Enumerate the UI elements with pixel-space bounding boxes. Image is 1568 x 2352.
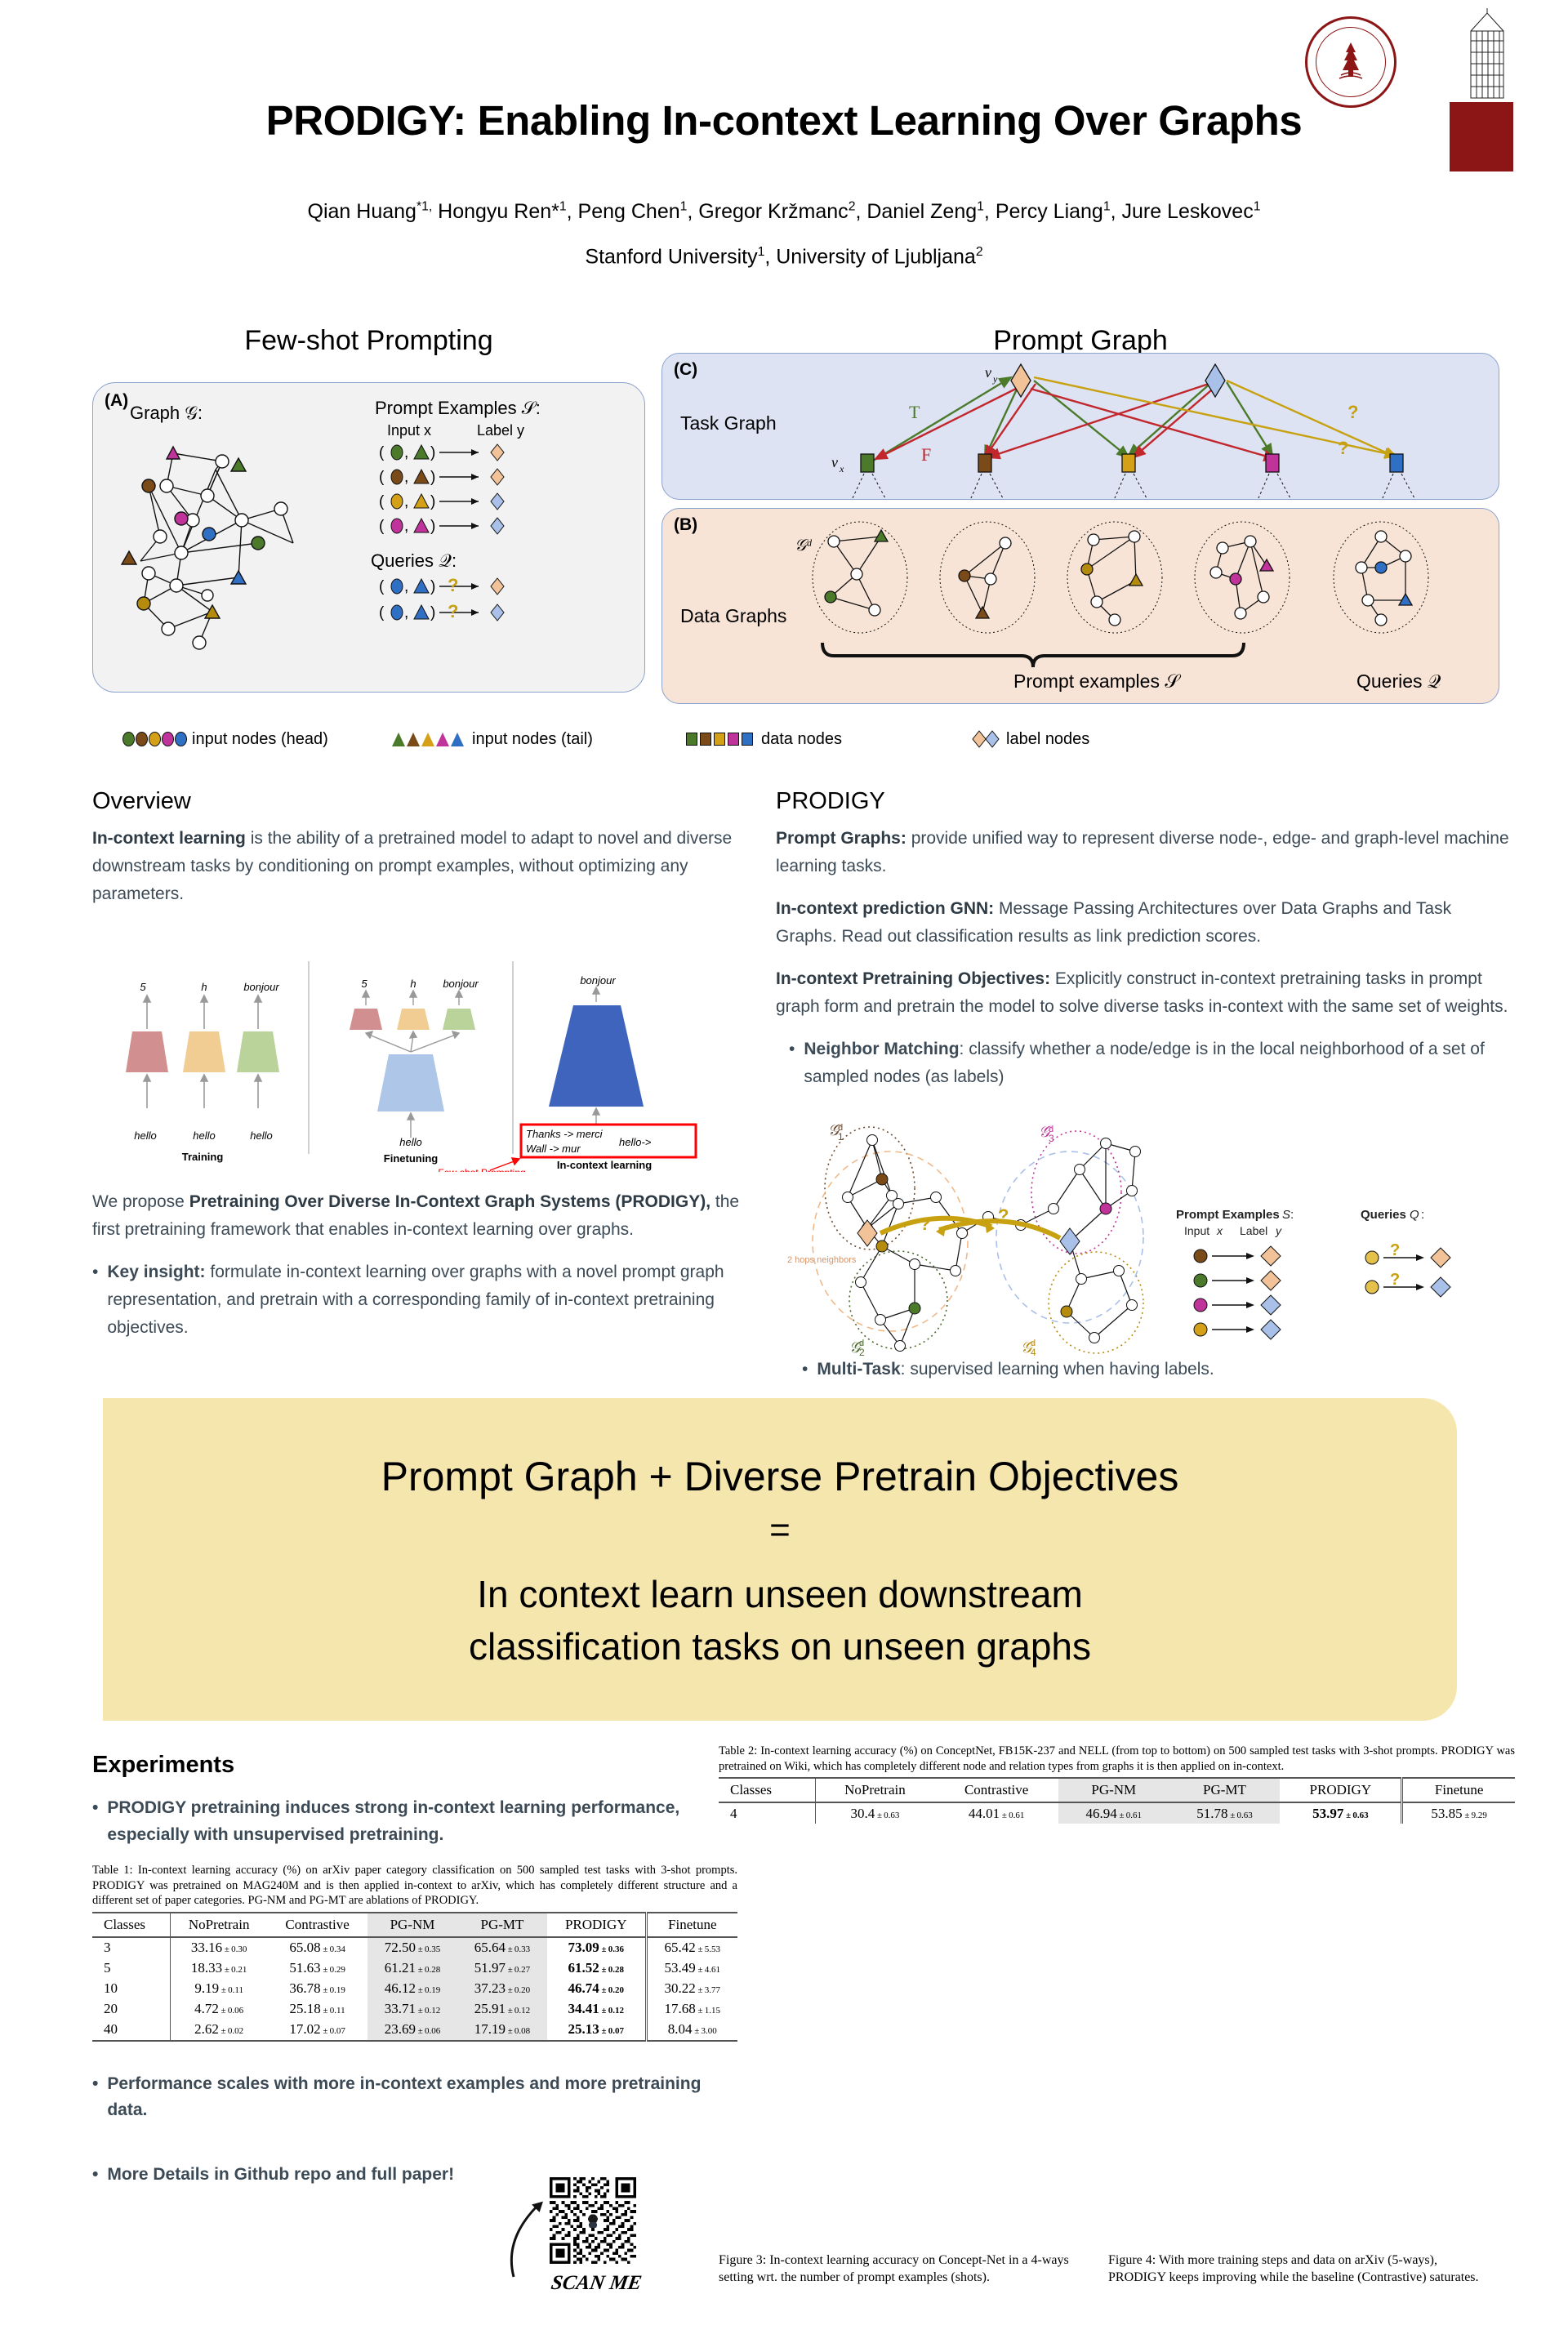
- svg-text:x: x: [839, 463, 844, 474]
- banner-line-2: In context learn unseen downstream class…: [469, 1569, 1091, 1673]
- square-icon: [686, 733, 697, 746]
- data-graphs-label: Data Graphs: [680, 605, 786, 627]
- table-row: 402.62 ± 0.0217.02 ± 0.0723.69 ± 0.0617.…: [92, 2020, 737, 2041]
- prompt-examples-brace-label: Prompt examples 𝒮: [1013, 670, 1179, 693]
- banner-line-1: Prompt Graph + Diverse Pretrain Objectiv…: [381, 1453, 1179, 1500]
- svg-text:?: ?: [998, 1205, 1009, 1226]
- legend-label: data nodes: [761, 730, 842, 749]
- overview-bullet-key-insight: • Key insight: formulate in-context lear…: [92, 1258, 754, 1342]
- th-classes: Classes: [719, 1778, 815, 1802]
- neighbor-matching-label: Neighbor Matching: [804, 1040, 959, 1058]
- svg-text:?: ?: [448, 601, 458, 621]
- svg-text:3: 3: [1049, 1133, 1054, 1144]
- experiments-bullet-3-text: More Details in Github repo and full pap…: [107, 2162, 454, 2189]
- label-y-label: Label y: [477, 422, 524, 439]
- triangle-icon: [421, 733, 434, 746]
- prodigy-heading: PRODIGY: [776, 788, 1511, 815]
- table-cell: 46.94 ± 0.61: [1058, 1802, 1169, 1824]
- table-row: 333.16 ± 0.3065.08 ± 0.3472.50 ± 0.3565.…: [92, 1937, 737, 1958]
- poster-header: PRODIGY: Enabling In-context Learning Ov…: [0, 0, 1568, 171]
- diamond-icon: [972, 730, 1001, 748]
- square-icon: [714, 733, 725, 746]
- table-cell: 61.21 ± 0.28: [367, 1958, 457, 1979]
- task-graph-label: Task Graph: [680, 412, 777, 434]
- affiliation-line: Stanford University1, University of Ljub…: [0, 245, 1568, 269]
- svg-text:): ): [430, 469, 435, 486]
- svg-text:Wall -> mur: Wall -> mur: [526, 1143, 581, 1155]
- table-2-kg-accuracy: Classes NoPretrain Contrastive PG-NM PG-…: [719, 1777, 1515, 1824]
- svg-text:T: T: [909, 402, 920, 422]
- data-graphs-svg: [809, 519, 1487, 641]
- svg-text:y: y: [992, 373, 998, 385]
- curved-arrow-icon: [506, 2190, 555, 2280]
- overview-lower-text: We propose Pretraining Over Diverse In-C…: [92, 1188, 754, 1353]
- svg-text:(: (: [379, 604, 385, 621]
- circle-icon: [175, 732, 187, 746]
- table-row: 518.33 ± 0.2151.63 ± 0.2961.21 ± 0.2851.…: [92, 1958, 737, 1979]
- prodigy-bullet-neighbor-matching: • Neighbor Matching: classify whether a …: [776, 1036, 1511, 1091]
- neighbor-matching-figure: ? ? 𝒢 1d 𝒢 2d 𝒢 3d 𝒢 4d 2 hops neighbors…: [776, 1119, 1511, 1356]
- legend-label: input nodes (tail): [472, 730, 593, 749]
- table-cell: 17.02 ± 0.07: [267, 2020, 367, 2041]
- table-cell: 53.97 ± 0.63: [1280, 1802, 1401, 1824]
- table-cell: 9.19 ± 0.11: [171, 1979, 268, 1999]
- stanford-brand-bar: [1450, 102, 1513, 171]
- training-vs-incontext-figure: 5 h bonjour hello hello hello Training 5…: [98, 943, 743, 1172]
- svg-text:h: h: [201, 981, 207, 993]
- svg-text:Input: Input: [1184, 1224, 1209, 1237]
- table-cell: 30.22 ± 3.77: [646, 1979, 737, 1999]
- svg-text:5: 5: [140, 981, 146, 993]
- scan-me-caption: SCAN ME: [550, 2272, 669, 2295]
- svg-text:d: d: [1049, 1125, 1053, 1134]
- overview-heading: Overview: [92, 788, 754, 815]
- svg-text:In-context learning: In-context learning: [557, 1159, 652, 1171]
- prompt-graphs-label: Prompt Graphs:: [776, 829, 906, 848]
- panel-b-data-graphs: (B) Data Graphs 𝒢ᵈ: [661, 508, 1499, 704]
- th-contrastive: Contrastive: [934, 1778, 1058, 1802]
- svg-text:hello->: hello->: [619, 1136, 652, 1148]
- svg-text:,: ,: [404, 444, 408, 461]
- table-cell: 65.42 ± 5.53: [646, 1937, 737, 1958]
- figure-captions: Figure 3: In-context learning accuracy o…: [719, 2252, 1515, 2287]
- svg-text:Thanks -> merci: Thanks -> merci: [526, 1128, 604, 1140]
- table-cell: 34.41 ± 0.12: [547, 1999, 646, 2020]
- example-graph-svg: [118, 422, 363, 667]
- table2-caption: Table 2: In-context learning accuracy (%…: [719, 1744, 1515, 1774]
- legend-item-input-tail: input nodes (tail): [392, 730, 686, 749]
- svg-text:d: d: [859, 1339, 864, 1348]
- svg-text:bonjour: bonjour: [443, 978, 479, 990]
- github-qr-block[interactable]: SCAN ME: [545, 2172, 667, 2295]
- queries-brace-label: Queries 𝒬: [1356, 670, 1441, 693]
- bullet-dot-icon: •: [92, 1258, 98, 1342]
- legend-label: label nodes: [1006, 730, 1089, 749]
- th-pgmt: PG-MT: [457, 1913, 547, 1937]
- table-cell: 4.72 ± 0.06: [171, 1999, 268, 2020]
- node-legend: input nodes (head) input nodes (tail) da…: [122, 725, 1511, 753]
- bullet-dot-icon: •: [92, 2071, 98, 2124]
- svg-text:v: v: [831, 454, 838, 470]
- banner-equals-sign: =: [769, 1510, 791, 1551]
- svg-text:bonjour: bonjour: [580, 974, 616, 987]
- hoover-tower-icon: [1450, 7, 1525, 100]
- table-row: Classes NoPretrain Contrastive PG-NM PG-…: [92, 1913, 737, 1937]
- svg-text:hello: hello: [134, 1129, 156, 1142]
- table-row: 204.72 ± 0.0625.18 ± 0.1133.71 ± 0.1225.…: [92, 1999, 737, 2020]
- table-cell: 65.08 ± 0.34: [267, 1937, 367, 1958]
- figures-row: [719, 2017, 1515, 2254]
- svg-text:v: v: [985, 364, 991, 381]
- svg-text:bonjour: bonjour: [243, 981, 279, 993]
- bullet-dot-icon: •: [789, 1036, 795, 1091]
- triangle-icon: [436, 733, 449, 746]
- th-finetune: Finetune: [646, 1913, 737, 1937]
- table-cell: 30.4 ± 0.63: [815, 1802, 934, 1824]
- svg-text:?: ?: [1347, 402, 1358, 422]
- svg-text:,: ,: [404, 469, 408, 486]
- table-cell: 17.68 ± 1.15: [646, 1999, 737, 2020]
- svg-text:?: ?: [920, 1214, 930, 1234]
- key-insight-label: Key insight:: [107, 1263, 205, 1281]
- svg-text:h: h: [410, 978, 416, 990]
- queries-rows: ( , ) ? ( , ) ?: [379, 576, 608, 635]
- th-contrastive: Contrastive: [267, 1913, 367, 1937]
- th-nopretrain: NoPretrain: [171, 1913, 268, 1937]
- qr-code-icon[interactable]: [550, 2177, 636, 2264]
- svg-text:,: ,: [404, 578, 408, 595]
- experiments-bullet-2: • Performance scales with more in-contex…: [92, 2071, 737, 2124]
- svg-text:Finetuning: Finetuning: [384, 1152, 438, 1165]
- table-cell: 51.97 ± 0.27: [457, 1958, 547, 1979]
- square-icon: [742, 733, 753, 746]
- figure-4-chart: [1131, 2017, 1515, 2250]
- table-1-arxiv-accuracy: Classes NoPretrain Contrastive PG-NM PG-…: [92, 1912, 737, 2042]
- th-prodigy: PRODIGY: [547, 1913, 646, 1937]
- table-cell: 36.78 ± 0.19: [267, 1979, 367, 1999]
- table-cell-classes: 40: [92, 2020, 171, 2041]
- legend-label: input nodes (head): [192, 730, 328, 749]
- svg-text:?: ?: [1390, 1241, 1400, 1259]
- svg-text:,: ,: [404, 493, 408, 510]
- overview-paragraph-1: In-context learning is the ability of a …: [92, 825, 754, 908]
- table-cell: 51.63 ± 0.29: [267, 1958, 367, 1979]
- circle-icon: [149, 732, 161, 746]
- table-cell: 23.69 ± 0.06: [367, 2020, 457, 2041]
- gnn-label: In-context prediction GNN:: [776, 899, 994, 918]
- prompt-examples-label: Prompt Examples 𝒮:: [375, 398, 541, 419]
- th-pgnm: PG-NM: [367, 1913, 457, 1937]
- svg-text:,: ,: [404, 604, 408, 621]
- svg-text:y: y: [1275, 1224, 1282, 1237]
- th-finetune: Finetune: [1402, 1778, 1515, 1802]
- th-pgmt: PG-MT: [1169, 1778, 1281, 1802]
- overview-column: Overview In-context learning is the abil…: [92, 788, 754, 923]
- stanford-seal-logo: [1305, 16, 1396, 108]
- figure-3-chart: [719, 2017, 1102, 2250]
- table2-block: Table 2: In-context learning accuracy (%…: [719, 1744, 1515, 1824]
- circle-icon: [136, 732, 148, 746]
- prodigy-item-gnn: In-context prediction GNN: Message Passi…: [776, 895, 1511, 951]
- banner-line-2b: classification tasks on unseen graphs: [469, 1625, 1091, 1668]
- table-cell-classes: 5: [92, 1958, 171, 1979]
- table-cell: 33.16 ± 0.30: [171, 1937, 268, 1958]
- table1-caption: Table 1: In-context learning accuracy (%…: [92, 1863, 737, 1909]
- multi-task-label: Multi-Task: [817, 1360, 900, 1379]
- author-line: Qian Huang*1, Hongyu Ren*1, Peng Chen1, …: [308, 200, 1261, 223]
- svg-text:): ): [430, 493, 435, 510]
- table-cell-classes: 20: [92, 1999, 171, 2020]
- svg-text:Label: Label: [1240, 1224, 1267, 1237]
- table-cell: 17.19 ± 0.08: [457, 2020, 547, 2041]
- experiments-bullet-2-text: Performance scales with more in-context …: [107, 2071, 737, 2124]
- prodigy-item-prompt-graphs: Prompt Graphs: provide unified way to re…: [776, 825, 1511, 880]
- svg-text:2 hops neighbors: 2 hops neighbors: [787, 1255, 857, 1265]
- table-cell: 51.78 ± 0.63: [1169, 1802, 1281, 1824]
- svg-text:(: (: [379, 518, 385, 535]
- table-cell: 18.33 ± 0.21: [171, 1958, 268, 1979]
- table-cell: 72.50 ± 0.35: [367, 1937, 457, 1958]
- table-cell: 65.64 ± 0.33: [457, 1937, 547, 1958]
- key-message-banner: Prompt Graph + Diverse Pretrain Objectiv…: [103, 1398, 1457, 1721]
- table2-body: 430.4 ± 0.6344.01 ± 0.6146.94 ± 0.6151.7…: [719, 1802, 1515, 1824]
- svg-text:): ): [430, 578, 435, 595]
- svg-text:hello: hello: [250, 1129, 272, 1142]
- panel-a-few-shot: (A) Graph 𝒢:: [92, 382, 645, 693]
- svg-text::: :: [1421, 1208, 1424, 1222]
- svg-text::: :: [1290, 1208, 1294, 1222]
- circle-icon: [122, 732, 135, 746]
- svg-text:x: x: [1216, 1224, 1223, 1237]
- svg-text:?: ?: [1390, 1271, 1400, 1289]
- svg-text:hello: hello: [193, 1129, 215, 1142]
- panel-b-tag: (B): [674, 515, 697, 535]
- svg-text:Training: Training: [182, 1151, 224, 1163]
- prodigy-fullname: Pretraining Over Diverse In-Context Grap…: [189, 1192, 710, 1211]
- bullet-dot-icon: •: [92, 1795, 98, 1848]
- svg-text:,: ,: [404, 518, 408, 535]
- table-cell: 53.49 ± 4.61: [646, 1958, 737, 1979]
- experiments-bullet-1: • PRODIGY pretraining induces strong in-…: [92, 1795, 737, 1848]
- svg-text:): ): [430, 604, 435, 621]
- table-cell: 25.18 ± 0.11: [267, 1999, 367, 2020]
- svg-text:hello: hello: [399, 1136, 421, 1148]
- overview-paragraph-2: We propose Pretraining Over Diverse In-C…: [92, 1188, 754, 1244]
- triangle-icon: [451, 733, 464, 746]
- few-shot-prompting-heading: Few-shot Prompting: [92, 325, 645, 357]
- banner-line-2a: In context learn unseen downstream: [477, 1573, 1083, 1615]
- figure-4-caption: Figure 4: With more training steps and d…: [1108, 2252, 1492, 2287]
- prodigy-item-objectives: In-context Pretraining Objectives: Expli…: [776, 965, 1511, 1021]
- svg-text:S: S: [1282, 1208, 1290, 1222]
- experiments-bullet-1-text: PRODIGY pretraining induces strong in-co…: [107, 1795, 737, 1848]
- svg-text:1: 1: [838, 1131, 844, 1143]
- qr-code[interactable]: [545, 2172, 641, 2269]
- author-list: Qian Huang*1, Hongyu Ren*1, Peng Chen1, …: [0, 200, 1568, 224]
- svg-text:?: ?: [448, 576, 458, 595]
- prodigy-bullet-multi-task: • Multi-Task: supervised learning when h…: [789, 1356, 1516, 1383]
- table-row: Classes NoPretrain Contrastive PG-NM PG-…: [719, 1778, 1515, 1802]
- table-cell: 53.85 ± 9.29: [1402, 1802, 1515, 1824]
- queries-label: Queries 𝒬:: [371, 550, 457, 572]
- svg-text:(: (: [379, 493, 385, 510]
- legend-item-input-head: input nodes (head): [122, 730, 392, 749]
- table1-body: 333.16 ± 0.3065.08 ± 0.3472.50 ± 0.3565.…: [92, 1937, 737, 2041]
- svg-text:(: (: [379, 444, 385, 461]
- svg-text:): ): [430, 518, 435, 535]
- input-x-label: Input x: [387, 422, 431, 439]
- svg-text:(: (: [379, 469, 385, 486]
- svg-text:Queries: Queries: [1361, 1208, 1406, 1222]
- table-cell: 46.12 ± 0.19: [367, 1979, 457, 1999]
- svg-text:(: (: [379, 578, 385, 595]
- figure-3-caption: Figure 3: In-context learning accuracy o…: [719, 2252, 1090, 2287]
- triangle-icon: [392, 733, 405, 746]
- table-cell: 25.91 ± 0.12: [457, 1999, 547, 2020]
- table-cell: 46.74 ± 0.20: [547, 1979, 646, 1999]
- prodigy-column: PRODIGY Prompt Graphs: provide unified w…: [776, 788, 1511, 1102]
- svg-text:F: F: [921, 444, 931, 465]
- svg-text:Few-shot Prompting: Few-shot Prompting: [438, 1167, 525, 1172]
- svg-text:Prompt Examples: Prompt Examples: [1176, 1208, 1280, 1222]
- th-prodigy: PRODIGY: [1280, 1778, 1401, 1802]
- table-cell-classes: 3: [92, 1937, 171, 1958]
- multi-task-text: : supervised learning when having labels…: [901, 1360, 1214, 1379]
- table-cell: 61.52 ± 0.28: [547, 1958, 646, 1979]
- prompt-examples-rows: ( , ) ( , ) ( , ): [379, 442, 608, 548]
- table-cell: 33.71 ± 0.12: [367, 1999, 457, 2020]
- svg-text:Q: Q: [1410, 1208, 1419, 1222]
- svg-text:d: d: [1031, 1339, 1036, 1348]
- panel-c-tag: (C): [674, 360, 697, 380]
- table-cell: 37.23 ± 0.20: [457, 1979, 547, 1999]
- table-cell: 2.62 ± 0.02: [171, 2020, 268, 2041]
- triangle-icon: [407, 733, 420, 746]
- th-pgnm: PG-NM: [1058, 1778, 1169, 1802]
- legend-item-label-nodes: label nodes: [972, 730, 1089, 749]
- bullet-dot-icon: •: [802, 1356, 808, 1383]
- stanford-tree-icon: [1326, 38, 1375, 87]
- task-graph-edges-svg: T F ? ? v y v x: [825, 359, 1478, 498]
- table-row: 109.19 ± 0.1136.78 ± 0.1946.12 ± 0.1937.…: [92, 1979, 737, 1999]
- circle-icon: [162, 732, 174, 746]
- square-icon: [728, 733, 739, 746]
- objectives-label: In-context Pretraining Objectives:: [776, 969, 1050, 988]
- graph-g-label: Graph 𝒢:: [130, 403, 203, 424]
- experiments-heading: Experiments: [92, 1752, 737, 1779]
- we-propose-prefix: We propose: [92, 1192, 189, 1211]
- table-cell: 73.09 ± 0.36: [547, 1937, 646, 1958]
- table-cell: 44.01 ± 0.61: [934, 1802, 1058, 1824]
- svg-text:): ): [430, 444, 435, 461]
- experiments-column: Experiments • PRODIGY pretraining induce…: [92, 1752, 737, 2203]
- table-row: 430.4 ± 0.6344.01 ± 0.6146.94 ± 0.6151.7…: [719, 1802, 1515, 1824]
- panel-a-tag: (A): [105, 391, 128, 411]
- prompt-examples-brace-icon: [817, 641, 1405, 670]
- svg-text:?: ?: [1338, 438, 1348, 458]
- svg-text:5: 5: [361, 978, 367, 990]
- th-classes: Classes: [92, 1913, 171, 1937]
- square-icon: [700, 733, 711, 746]
- svg-text:d: d: [838, 1123, 843, 1133]
- table-cell-classes: 10: [92, 1979, 171, 1999]
- table-cell-classes: 4: [719, 1802, 815, 1824]
- bullet-dot-icon: •: [92, 2162, 98, 2189]
- table-cell: 25.13 ± 0.07: [547, 2020, 646, 2041]
- th-nopretrain: NoPretrain: [815, 1778, 934, 1802]
- overview-bold-term: In-context learning: [92, 829, 246, 848]
- legend-item-data-nodes: data nodes: [686, 730, 972, 749]
